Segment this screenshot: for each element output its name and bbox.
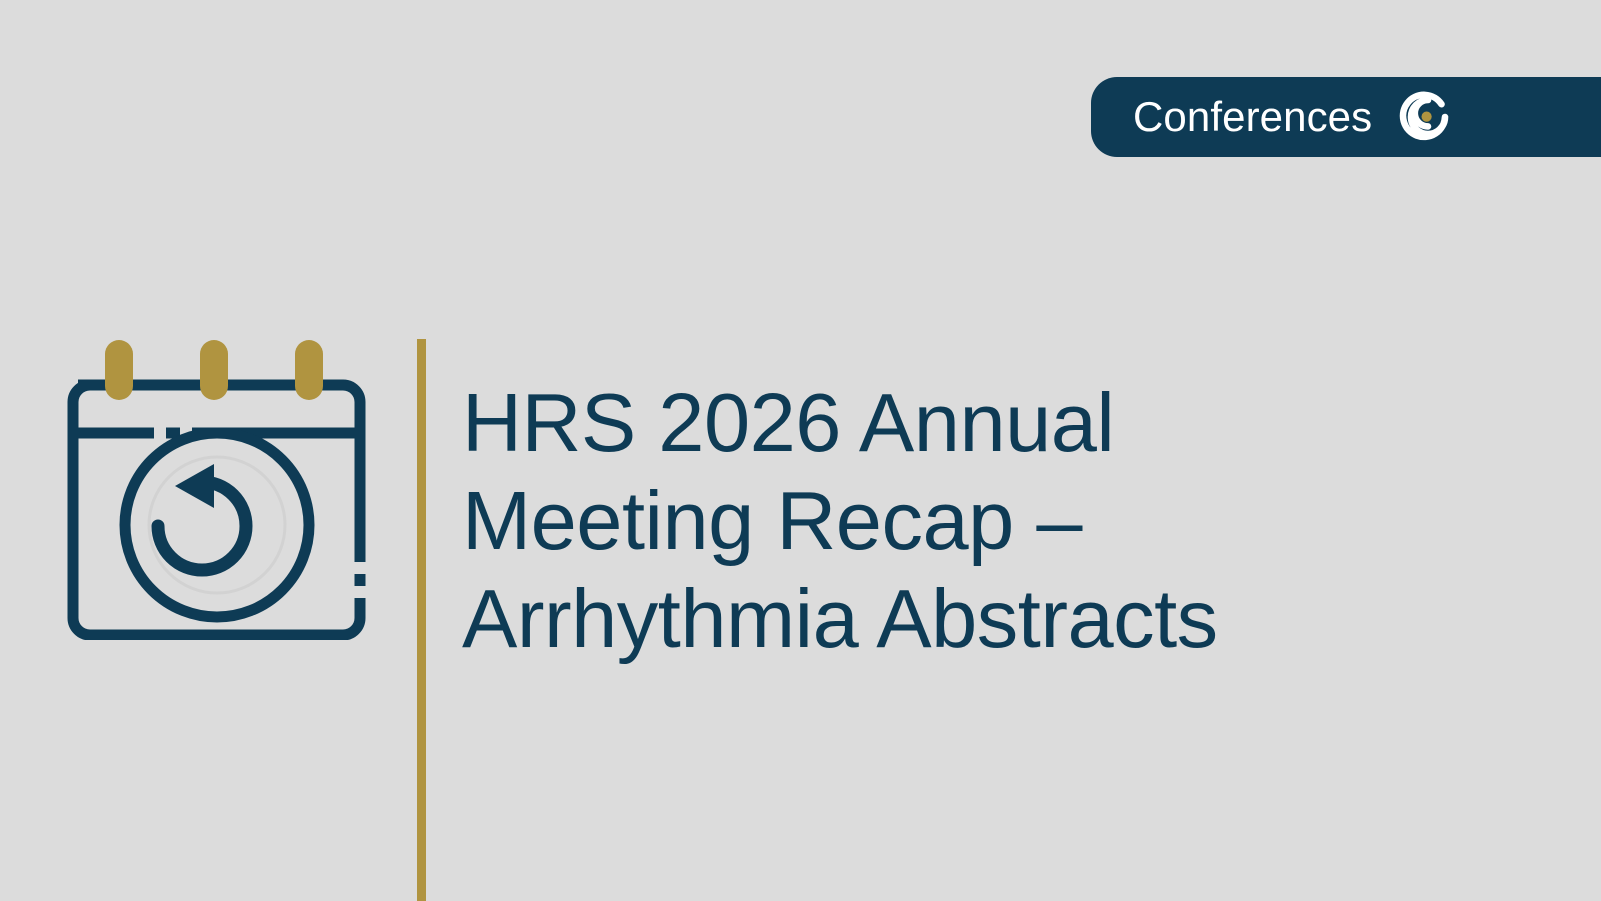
- slide-title-line-3: Arrhythmia Abstracts: [462, 570, 1542, 668]
- slide-title: HRS 2026 Annual Meeting Recap – Arrhythm…: [462, 374, 1542, 668]
- category-badge[interactable]: Conferences: [1091, 77, 1601, 157]
- logo-center-dot: [1422, 112, 1432, 122]
- gold-vertical-divider: [417, 339, 426, 901]
- binder-ring-2: [200, 340, 228, 400]
- rewind-arrow-head: [175, 464, 214, 508]
- slide-title-line-2: Meeting Recap –: [462, 472, 1542, 570]
- slide-title-line-1: HRS 2026 Annual: [462, 374, 1542, 472]
- binder-ring-1: [105, 340, 133, 400]
- calendar-binder-rings: [105, 340, 323, 400]
- slide-canvas: Conferences: [0, 0, 1601, 901]
- spiral-c-logo-icon: [1396, 89, 1452, 145]
- calendar-recap-icon: [62, 330, 372, 640]
- binder-ring-3: [295, 340, 323, 400]
- calendar-frame-left: [73, 385, 90, 635]
- category-badge-label: Conferences: [1133, 96, 1372, 138]
